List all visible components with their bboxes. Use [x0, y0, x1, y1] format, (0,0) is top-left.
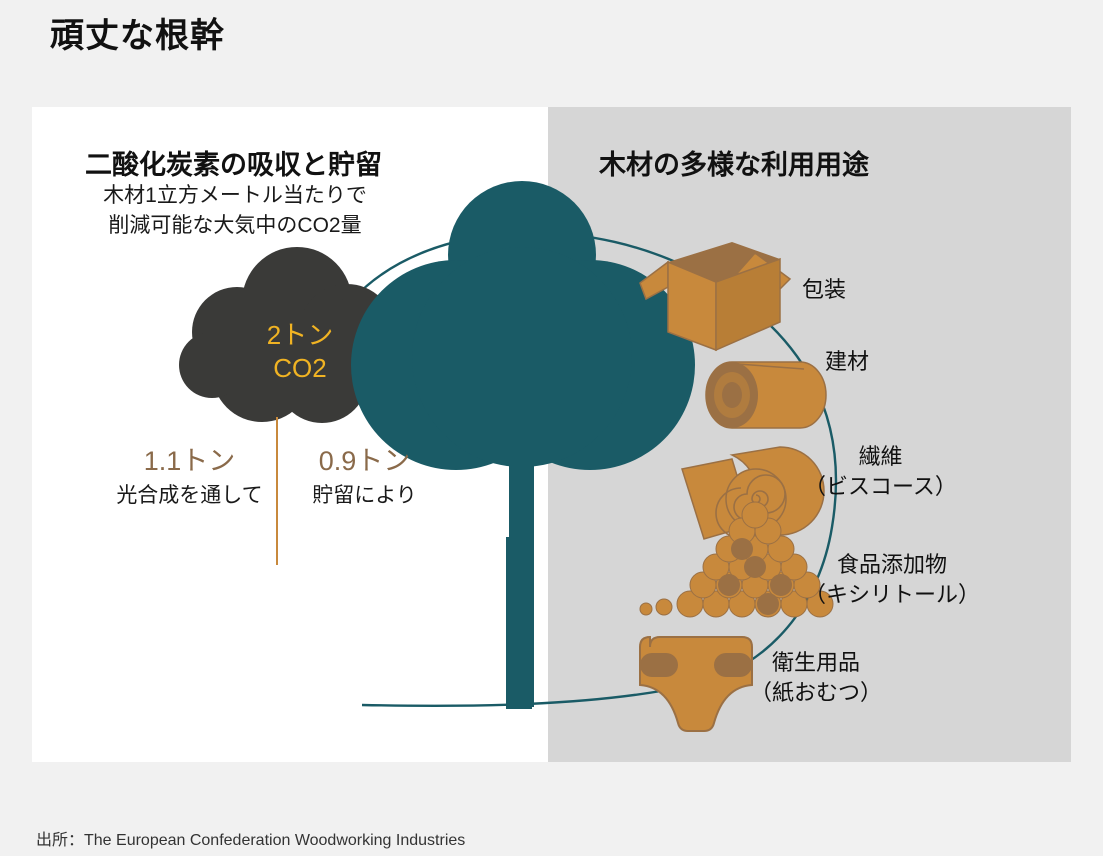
left-panel-subtitle: 木材1立方メートル当たりで 削減可能な大気中のCO2量: [85, 181, 385, 241]
source-note: 出所：The European Confederation Woodworkin…: [36, 826, 465, 850]
use-label-fiber: 繊維 （ビスコース）: [804, 442, 957, 502]
right-panel-heading: 木材の多様な利用用途: [599, 143, 869, 182]
use-label-packaging: 包装: [802, 275, 846, 305]
infographic-panel: 二酸化炭素の吸収と貯留 木材1立方メートル当たりで 削減可能な大気中のCO2量 …: [32, 107, 1071, 762]
use-label-food-additive-line1: 食品添加物: [804, 550, 980, 580]
breakdown-desc-photosynthesis: 光合成を通して: [107, 479, 272, 509]
breakdown-desc-storage: 貯留により: [282, 479, 447, 509]
use-label-food-additive: 食品添加物 （キシリトール）: [804, 550, 980, 610]
page-title: 頑丈な根幹: [50, 8, 225, 57]
breakdown-value-photosynthesis: 1.1トン: [107, 439, 272, 478]
left-panel-heading: 二酸化炭素の吸収と貯留: [85, 143, 382, 182]
use-label-hygiene: 衛生用品 （紙おむつ）: [750, 648, 882, 708]
use-label-fiber-line1: 繊維: [804, 442, 957, 472]
subtitle-line-1: 木材1立方メートル当たりで: [85, 181, 385, 211]
subtitle-line-2: 削減可能な大気中のCO2量: [85, 211, 385, 241]
breakdown-value-storage: 0.9トン: [282, 439, 447, 478]
use-label-building-material-line1: 建材: [825, 347, 869, 377]
use-label-fiber-line2: （ビスコース）: [804, 472, 957, 502]
use-label-packaging-line1: 包装: [802, 275, 846, 305]
diaper-icon: [640, 637, 752, 731]
wood-log-icon: [706, 362, 826, 428]
use-label-hygiene-line1: 衛生用品: [750, 648, 882, 678]
use-label-food-additive-line2: （キシリトール）: [804, 580, 980, 610]
use-label-building-material: 建材: [825, 347, 869, 377]
use-label-hygiene-line2: （紙おむつ）: [750, 678, 882, 708]
